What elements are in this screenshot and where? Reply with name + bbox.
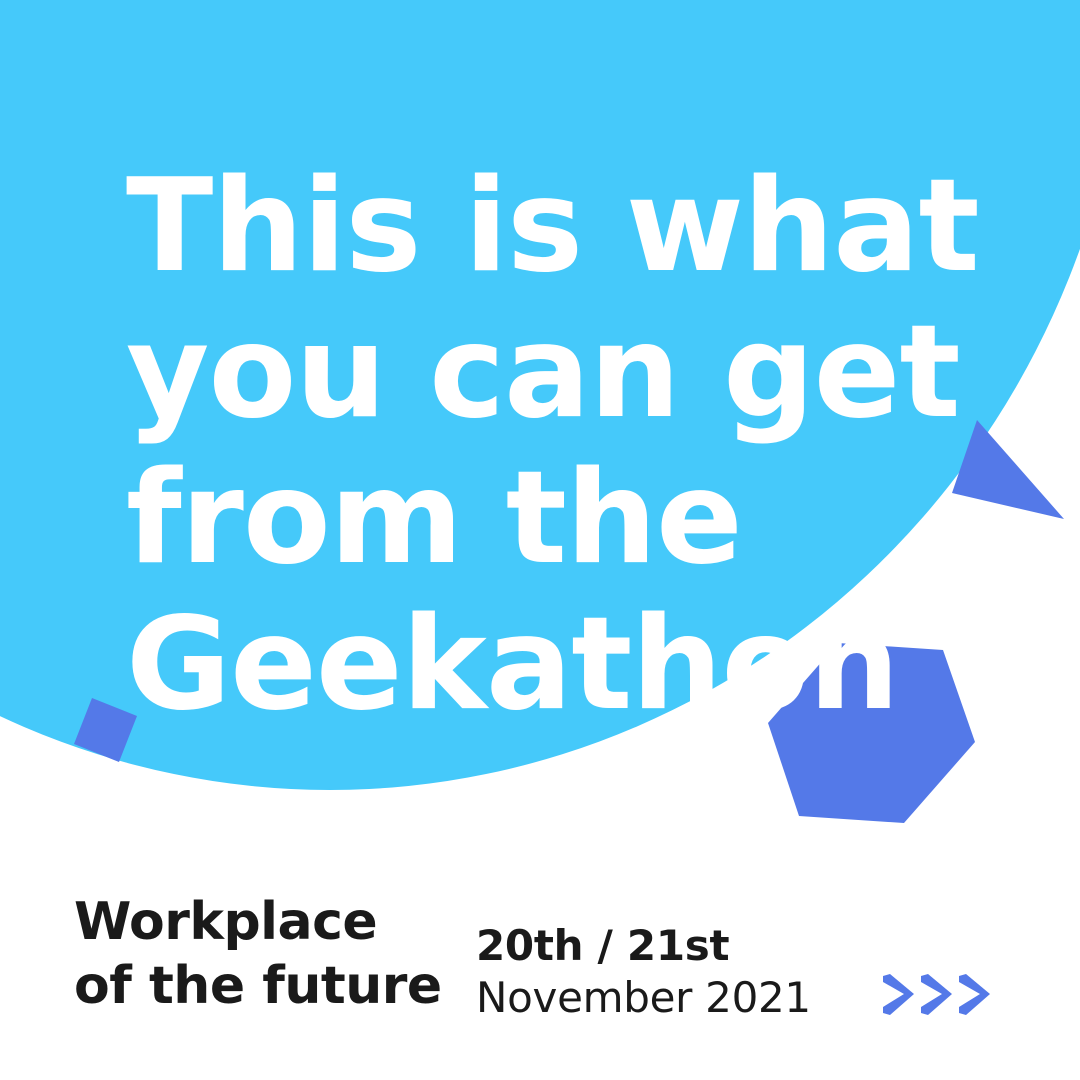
headline-line-2: you can get bbox=[126, 300, 946, 446]
headline-line-1: This is what bbox=[126, 154, 946, 300]
brand-line-2: of the future bbox=[74, 954, 442, 1018]
headline-line-4: Geekathon bbox=[126, 592, 946, 738]
headline-line-3: from the bbox=[126, 446, 946, 592]
chevron-right-icon-1 bbox=[883, 974, 914, 1015]
event-dates-month: November 2021 bbox=[476, 972, 811, 1024]
event-dates: 20th / 21st November 2021 bbox=[476, 920, 811, 1024]
brand-lockup: Workplace of the future bbox=[74, 890, 442, 1018]
chevron-right-icon-3 bbox=[959, 974, 990, 1015]
brand-line-1: Workplace bbox=[74, 890, 442, 954]
poster-canvas: This is what you can get from the Geekat… bbox=[0, 0, 1080, 1080]
chevron-right-icon-2 bbox=[921, 974, 952, 1015]
chevron-right-icon-group[interactable] bbox=[880, 972, 990, 1018]
event-dates-day: 20th / 21st bbox=[476, 920, 811, 972]
headline: This is what you can get from the Geekat… bbox=[126, 154, 946, 738]
footer: Workplace of the future 20th / 21st Nove… bbox=[0, 880, 1080, 1080]
